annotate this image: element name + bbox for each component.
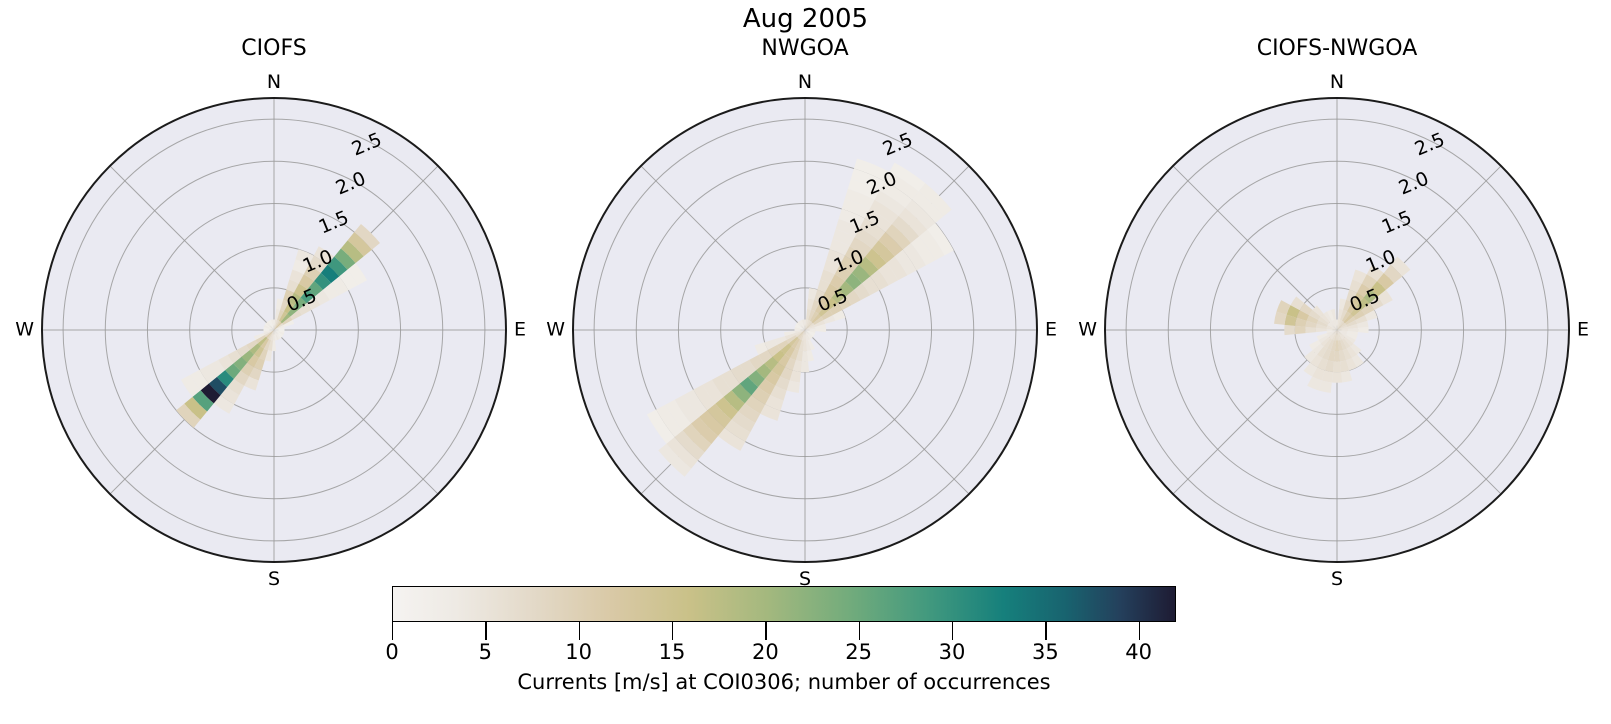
colorbar-tick <box>952 622 953 640</box>
compass-label-s: S <box>268 570 280 589</box>
colorbar-tick-label: 40 <box>1125 642 1152 663</box>
rose-cell <box>801 361 809 372</box>
colorbar-tick-label: 0 <box>385 642 398 663</box>
colorbar-tick <box>579 622 580 640</box>
polar-panel-ciofs-nwgoa: CIOFS-NWGOANSWE0.51.01.52.02.5 <box>985 0 1611 600</box>
colorbar-tick-label: 20 <box>752 642 779 663</box>
compass-label-w: W <box>546 321 565 340</box>
colorbar-tick-label: 25 <box>845 642 872 663</box>
polar-axes-ciofs-nwgoa <box>985 0 1611 600</box>
rose-cell <box>802 351 808 362</box>
colorbar-tick-label: 30 <box>939 642 966 663</box>
colorbar-tick-label: 35 <box>1032 642 1059 663</box>
colorbar-tick <box>765 622 766 640</box>
compass-label-n: N <box>267 73 281 92</box>
rose-cell <box>1305 327 1316 333</box>
rose-cell <box>1284 325 1295 335</box>
colorbar-gradient[interactable] <box>392 586 1176 622</box>
colorbar-tick-label: 10 <box>565 642 592 663</box>
rose-cell <box>1333 361 1341 372</box>
colorbar-tick-label: 5 <box>479 642 492 663</box>
rose-cell <box>1334 351 1340 362</box>
colorbar-group: 0510152025303540 Currents [m/s] at COI03… <box>392 586 1176 696</box>
rose-cell <box>1332 372 1342 383</box>
colorbar-tick <box>392 622 393 640</box>
compass-label-e: E <box>1577 321 1589 340</box>
colorbar-tick <box>1045 622 1046 640</box>
colorbar-tick <box>485 622 486 640</box>
compass-label-n: N <box>798 73 812 92</box>
compass-label-n: N <box>1330 73 1344 92</box>
compass-label-w: W <box>15 321 34 340</box>
compass-label-w: W <box>1078 321 1097 340</box>
colorbar-tick <box>672 622 673 640</box>
rose-cell <box>1358 327 1369 333</box>
panel-title-ciofs-nwgoa: CIOFS-NWGOA <box>985 36 1611 62</box>
compass-label-s: S <box>1331 570 1343 589</box>
colorbar-tick-label: 15 <box>659 642 686 663</box>
colorbar-label: Currents [m/s] at COI0306; number of occ… <box>392 670 1176 694</box>
rose-cell <box>1295 326 1306 334</box>
colorbar-tick <box>1139 622 1140 640</box>
colorbar-tick <box>859 622 860 640</box>
figure-canvas: Aug 2005 CIOFSNSWE0.51.01.52.02.5NWGOANS… <box>0 0 1611 724</box>
